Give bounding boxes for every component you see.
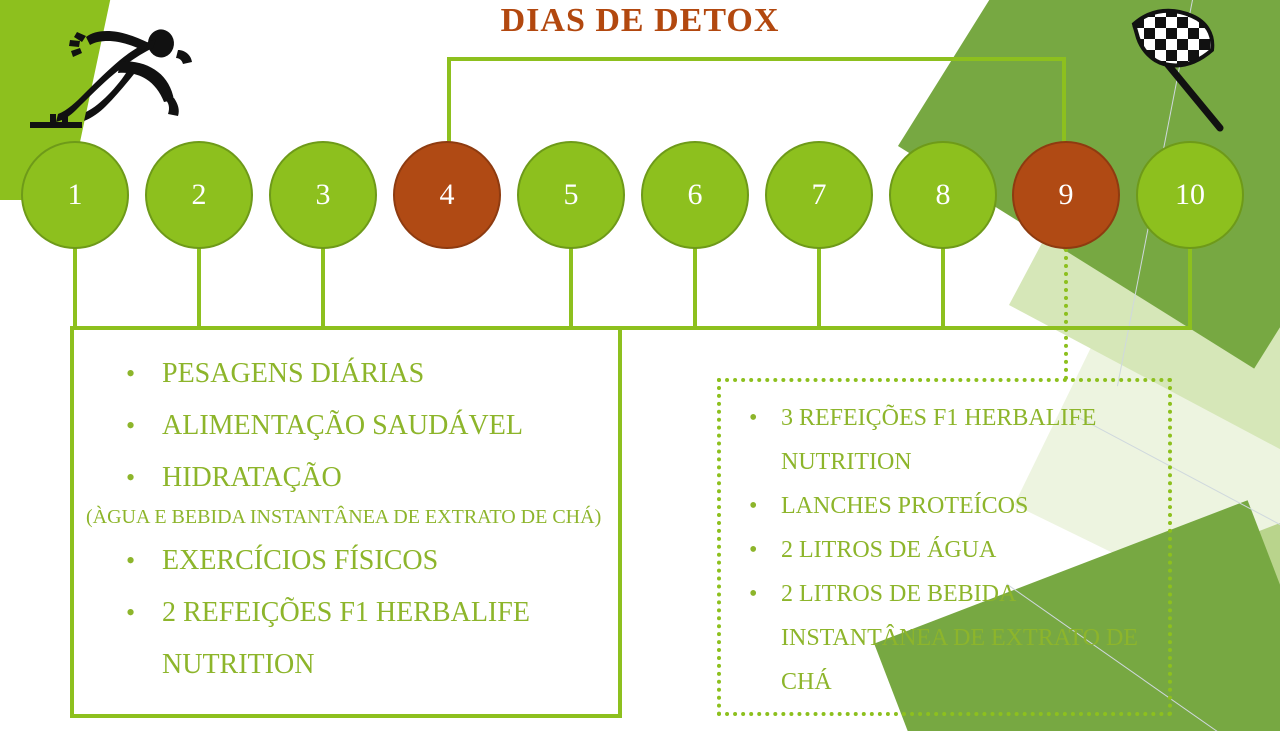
day-circle-10[interactable]: 10 xyxy=(1136,141,1244,249)
stem-day-3 xyxy=(321,248,325,330)
day-label: 10 xyxy=(1175,178,1205,212)
day-circle-9[interactable]: 9 xyxy=(1012,141,1120,249)
list-item: 2 LITROS DE ÁGUA xyxy=(745,528,1155,572)
stem-day-8 xyxy=(941,248,945,330)
stem-day-5 xyxy=(569,248,573,330)
day-label: 4 xyxy=(440,178,455,212)
checkered-flag-icon xyxy=(1122,6,1227,136)
list-item: 2 LITROS DE BEBIDA INSTANTÂNEA DE EXTRAT… xyxy=(745,572,1155,704)
day-label: 8 xyxy=(936,178,951,212)
day-circle-3[interactable]: 3 xyxy=(269,141,377,249)
day-circle-2[interactable]: 2 xyxy=(145,141,253,249)
list-item: ALIMENTAÇÃO SAUDÁVEL xyxy=(118,400,618,452)
slide-canvas: DIAS DE DETOX xyxy=(0,0,1280,731)
list-item: LANCHES PROTEÍCOS xyxy=(745,484,1155,528)
stem-day-6 xyxy=(693,248,697,330)
list-item: HIDRATAÇÃO xyxy=(118,452,618,504)
daily-routine-panel: PESAGENS DIÁRIAS ALIMENTAÇÃO SAUDÁVEL HI… xyxy=(70,326,622,718)
day-label: 1 xyxy=(68,178,83,212)
day-circle-6[interactable]: 6 xyxy=(641,141,749,249)
day-label: 6 xyxy=(688,178,703,212)
daily-routine-list-bottom: EXERCÍCIOS FÍSICOS 2 REFEIÇÕES F1 HERBAL… xyxy=(118,535,618,691)
day-label: 7 xyxy=(812,178,827,212)
day-circle-1[interactable]: 1 xyxy=(21,141,129,249)
list-item: PESAGENS DIÁRIAS xyxy=(118,348,618,400)
hydration-note: (ÀGUA E BEBIDA INSTANTÂNEA DE EXTRATO DE… xyxy=(86,506,601,529)
day-circle-4[interactable]: 4 xyxy=(393,141,501,249)
day-circle-8[interactable]: 8 xyxy=(889,141,997,249)
stem-day-2 xyxy=(197,248,201,330)
daily-routine-list-top: PESAGENS DIÁRIAS ALIMENTAÇÃO SAUDÁVEL HI… xyxy=(118,348,618,504)
detox-day-panel: 3 REFEIÇÕES F1 HERBALIFE NUTRITION LANCH… xyxy=(717,378,1172,716)
list-item-continuation: NUTRITION xyxy=(118,639,618,691)
stem-day-7 xyxy=(817,248,821,330)
stem-day-1 xyxy=(73,248,77,330)
runner-icon xyxy=(22,10,197,135)
day-label: 3 xyxy=(316,178,331,212)
day-label: 5 xyxy=(564,178,579,212)
day-label: 2 xyxy=(192,178,207,212)
top-bracket-connector xyxy=(447,57,1066,149)
day-circle-5[interactable]: 5 xyxy=(517,141,625,249)
day-circle-7[interactable]: 7 xyxy=(765,141,873,249)
day-label: 9 xyxy=(1059,178,1074,212)
list-item: 3 REFEIÇÕES F1 HERBALIFE NUTRITION xyxy=(745,396,1155,484)
list-item: EXERCÍCIOS FÍSICOS xyxy=(118,535,618,587)
detox-day-list: 3 REFEIÇÕES F1 HERBALIFE NUTRITION LANCH… xyxy=(745,396,1155,704)
stem-day-10 xyxy=(1188,248,1192,330)
dotted-stem-day-9 xyxy=(1064,248,1068,380)
list-item: 2 REFEIÇÕES F1 HERBALIFE xyxy=(118,587,618,639)
